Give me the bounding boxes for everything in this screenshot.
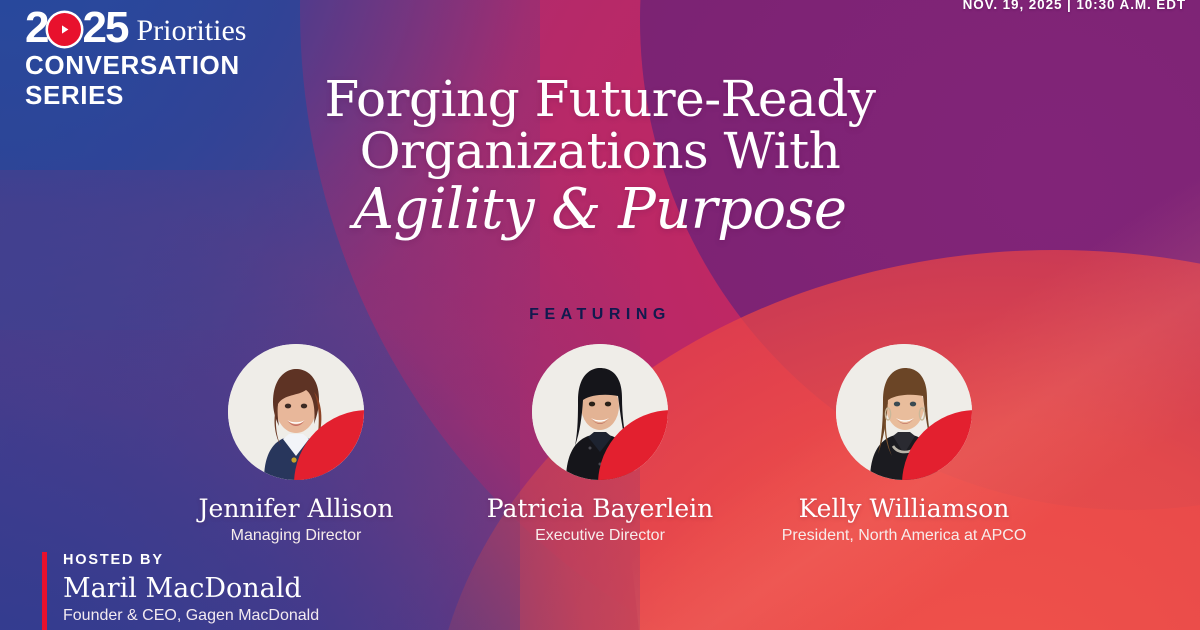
event-promo-poster: NOV. 19, 2025 | 10:30 A.M. EDT 2 2 5 Pri… [0, 0, 1200, 630]
logo-digit-fourth: 5 [105, 6, 127, 50]
speaker-card: Kelly Williamson President, North Americ… [784, 344, 1024, 545]
speaker-title: Managing Director [231, 526, 362, 545]
title-line-1: Forging Future-Ready [0, 74, 1200, 126]
play-arrow-icon [48, 13, 81, 46]
logo-digit-first: 2 [25, 6, 47, 50]
speaker-title: Executive Director [535, 526, 665, 545]
host-label: HOSTED BY [63, 552, 319, 568]
title-line-3: Agility & Purpose [0, 179, 1200, 242]
speaker-name: Patricia Bayerlein [487, 495, 713, 523]
logo-wordmark-priorities: Priorities [136, 16, 246, 46]
page-title: Forging Future-Ready Organizations With … [0, 74, 1200, 242]
logo-digit-third: 2 [82, 6, 104, 50]
avatar [228, 344, 364, 480]
event-datetime: NOV. 19, 2025 | 10:30 A.M. EDT [963, 0, 1186, 12]
speaker-card: Patricia Bayerlein Executive Director [480, 344, 720, 545]
host-name: Maril MacDonald [63, 573, 319, 605]
host-role: Founder & CEO, Gagen MacDonald [63, 606, 319, 625]
logo-year-2025: 2 2 5 [25, 6, 127, 50]
speaker-name: Jennifer Allison [199, 495, 394, 523]
speaker-name: Kelly Williamson [799, 495, 1010, 523]
speaker-list: Jennifer Allison Managing Director [0, 344, 1200, 545]
featuring-label: FEATURING [0, 306, 1200, 324]
host-block: HOSTED BY Maril MacDonald Founder & CEO,… [42, 552, 319, 630]
title-line-2: Organizations With [0, 126, 1200, 178]
avatar [836, 344, 972, 480]
speaker-card: Jennifer Allison Managing Director [176, 344, 416, 545]
avatar [532, 344, 668, 480]
speaker-title: President, North America at APCO [782, 526, 1027, 545]
